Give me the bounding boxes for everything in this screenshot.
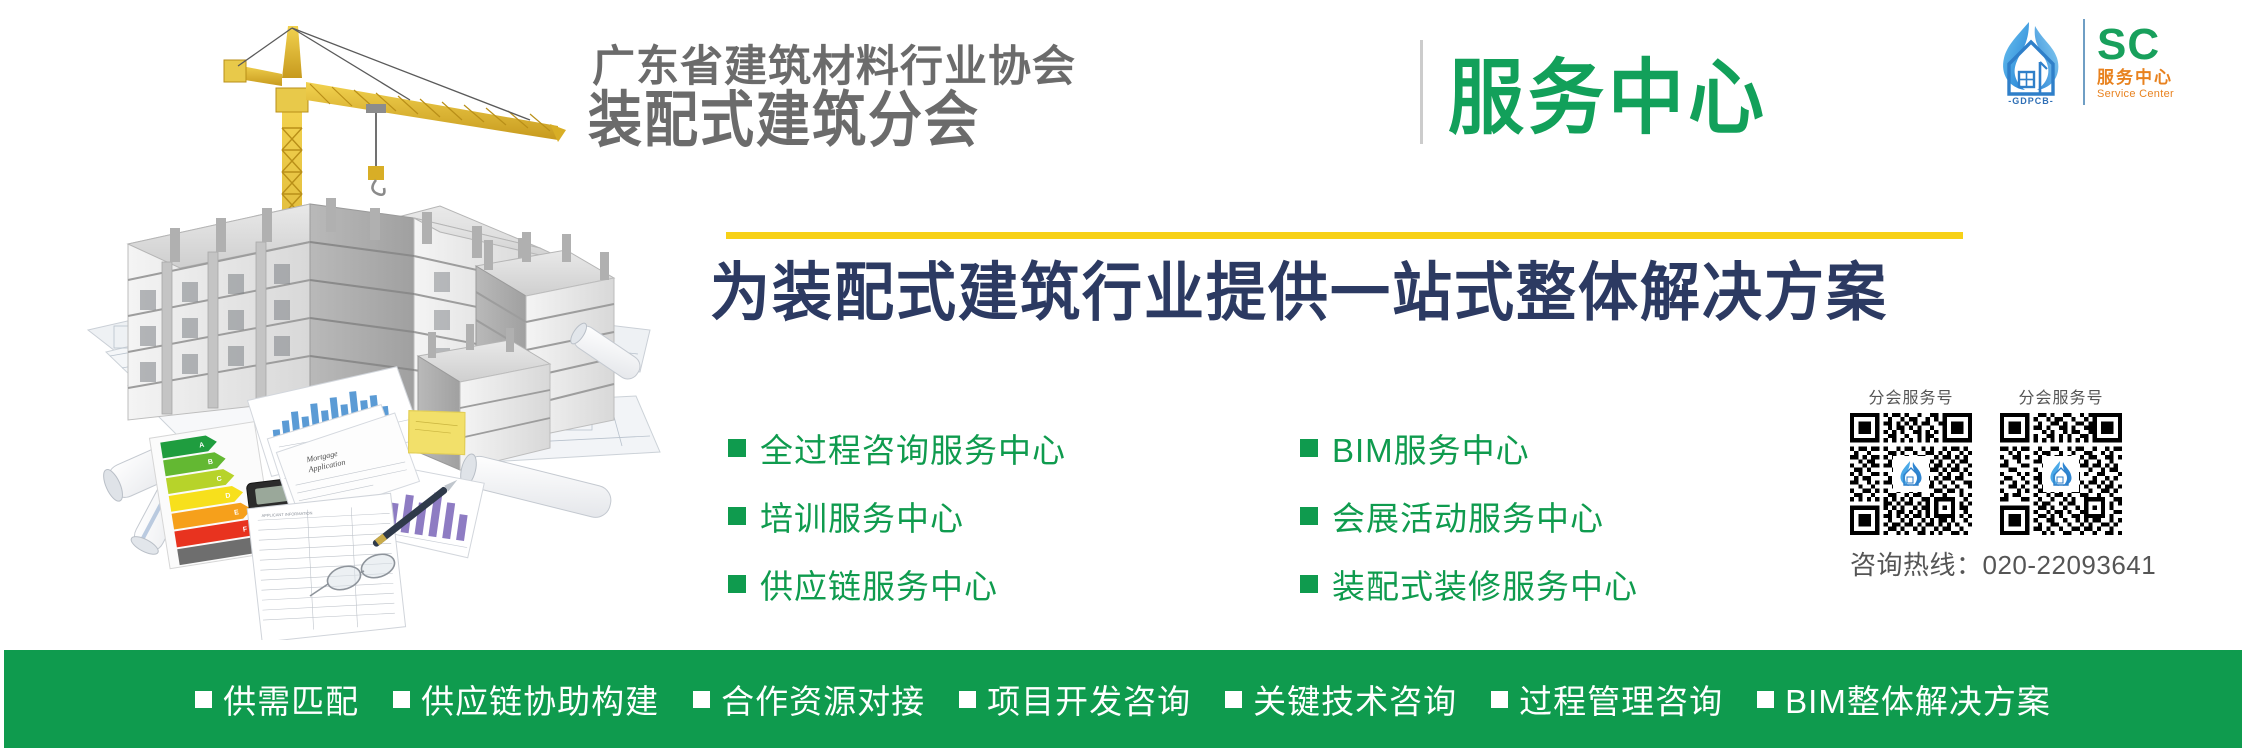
logo-separator (2083, 19, 2085, 105)
logo-sc-text: SC (2097, 24, 2235, 66)
list-item[interactable]: 会展活动服务中心 (1300, 482, 1638, 550)
service-list-right: BIM服务中心 会展活动服务中心 装配式装修服务中心 (1300, 414, 1638, 618)
branch-name: 装配式建筑分会 (588, 88, 980, 153)
hotline-text: 咨询热线：020-22093641 (1850, 545, 2230, 582)
qr-code-cell: 分会服务号 (1850, 384, 1972, 535)
qr-caption: 分会服务号 (2000, 384, 2122, 408)
square-bullet-icon (728, 439, 746, 457)
square-bullet-icon (1300, 439, 1318, 457)
square-bullet-icon (195, 691, 212, 708)
capability-label: 项目开发咨询 (987, 675, 1191, 723)
square-bullet-icon (728, 575, 746, 593)
title-divider (1420, 40, 1423, 144)
svg-text:B: B (208, 459, 214, 467)
logo-abbreviation-caption: -GDPCB- (1985, 96, 2077, 106)
svg-text:D: D (225, 492, 231, 500)
list-item[interactable]: 项目开发咨询 (959, 675, 1191, 723)
list-item[interactable]: BIM服务中心 (1300, 414, 1638, 482)
page-tagline: 为装配式建筑行业提供一站式整体解决方案 (710, 256, 1888, 330)
square-bullet-icon (1491, 691, 1508, 708)
square-bullet-icon (959, 691, 976, 708)
capability-label: BIM整体解决方案 (1785, 675, 2051, 723)
service-label: 装配式装修服务中心 (1332, 560, 1638, 608)
capability-label: 合作资源对接 (721, 675, 925, 723)
capability-label: 过程管理咨询 (1519, 675, 1723, 723)
logo-wordmark: SC 服务中心 Service Center (2097, 24, 2235, 101)
brand-logo: -GDPCB- SC 服务中心 Service Center (1985, 14, 2235, 110)
accent-divider-rule (726, 232, 1963, 239)
square-bullet-icon (1300, 507, 1318, 525)
qr-center-logo-icon (2043, 456, 2079, 492)
service-label: 全过程咨询服务中心 (760, 424, 1066, 472)
qr-caption: 分会服务号 (1850, 384, 1972, 408)
svg-text:A: A (199, 442, 205, 450)
qr-code-cell: 分会服务号 (2000, 384, 2122, 535)
association-name: 广东省建筑材料行业协会 (592, 44, 1076, 90)
list-item[interactable]: 培训服务中心 (728, 482, 1066, 550)
list-item[interactable]: 合作资源对接 (693, 675, 925, 723)
square-bullet-icon (728, 507, 746, 525)
service-label: 培训服务中心 (760, 492, 964, 540)
service-label: BIM服务中心 (1332, 424, 1530, 472)
service-label: 供应链服务中心 (760, 560, 998, 608)
qr-code-panel: 分会服务号 (1850, 384, 2230, 582)
qr-code-row: 分会服务号 (1850, 384, 2230, 535)
qr-center-logo-icon (1893, 456, 1929, 492)
qr-code-image-1[interactable] (1850, 413, 1972, 535)
list-item[interactable]: BIM整体解决方案 (1757, 675, 2051, 723)
square-bullet-icon (393, 691, 410, 708)
service-list-left: 全过程咨询服务中心 培训服务中心 供应链服务中心 (728, 414, 1066, 618)
list-item[interactable]: 供应链协助构建 (393, 675, 659, 723)
promotional-banner: ABC DEF G (0, 0, 2246, 752)
list-item[interactable]: 关键技术咨询 (1225, 675, 1457, 723)
list-item[interactable]: 供应链服务中心 (728, 550, 1066, 618)
svg-text:C: C (216, 476, 222, 484)
square-bullet-icon (1757, 691, 1774, 708)
square-bullet-icon (693, 691, 710, 708)
service-label: 会展活动服务中心 (1332, 492, 1604, 540)
capability-label: 供需匹配 (223, 675, 359, 723)
square-bullet-icon (1225, 691, 1242, 708)
list-item[interactable]: 全过程咨询服务中心 (728, 414, 1066, 482)
construction-illustration: ABC DEF G (10, 0, 670, 640)
list-item[interactable]: 供需匹配 (195, 675, 359, 723)
list-item[interactable]: 装配式装修服务中心 (1300, 550, 1638, 618)
service-center-heading: 服务中心 (1448, 56, 1768, 142)
list-item[interactable]: 过程管理咨询 (1491, 675, 1723, 723)
qr-code-image-2[interactable] (2000, 413, 2122, 535)
capability-bar: 供需匹配 供应链协助构建 合作资源对接 项目开发咨询 关键技术咨询 过程管理咨询… (4, 650, 2242, 748)
logo-chinese-label: 服务中心 (2097, 68, 2235, 88)
square-bullet-icon (1300, 575, 1318, 593)
capability-label: 关键技术咨询 (1253, 675, 1457, 723)
capability-label: 供应链协助构建 (421, 675, 659, 723)
gdpcb-house-flame-icon: -GDPCB- (1985, 16, 2077, 108)
logo-english-label: Service Center (2097, 88, 2235, 101)
